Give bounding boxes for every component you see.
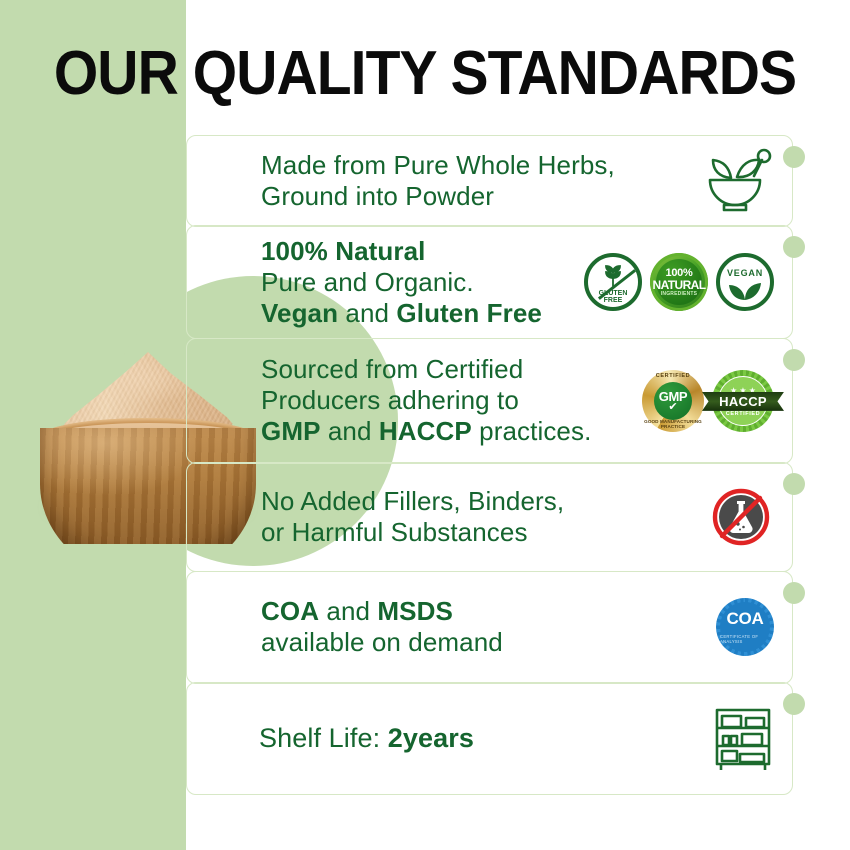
row-icons-1 <box>698 146 792 216</box>
row-text-2: 100% Natural Pure and Organic. Vegan and… <box>187 236 584 329</box>
row1-line1: Made from Pure Whole Herbs, <box>261 150 615 180</box>
row-dot-2 <box>783 236 805 258</box>
row2-line2: Pure and Organic. <box>261 267 474 297</box>
standard-row-certified-producers: Sourced from Certified Producers adherin… <box>186 338 793 464</box>
mortar-and-pestle-icon <box>698 146 774 216</box>
vegan-badge: VEGAN <box>716 253 774 311</box>
row2-line3-and: and <box>338 298 396 328</box>
gluten-free-line2: FREE <box>604 297 623 304</box>
row3-practices: practices. <box>472 416 592 446</box>
row-icons-3: CERTIFIED GOOD MANUFACTURING PRACTICE GM… <box>642 370 792 432</box>
gmp-bottom-text: GOOD MANUFACTURING PRACTICE <box>642 419 704 429</box>
coa-center-text: COA <box>727 610 764 627</box>
row3-haccp: HACCP <box>379 416 472 446</box>
row6-value: 2years <box>388 723 474 753</box>
row6-label: Shelf Life: <box>259 723 388 753</box>
vegan-badge-label: VEGAN <box>727 268 763 278</box>
row-dot-4 <box>783 473 805 495</box>
row2-line3-gluten-free: Gluten Free <box>396 298 542 328</box>
row-text-4: No Added Fillers, Binders, or Harmful Su… <box>187 486 708 548</box>
row2-line1: 100% Natural <box>261 236 426 266</box>
page-title: OUR QUALITY STANDARDS <box>34 40 816 108</box>
standard-row-no-fillers: No Added Fillers, Binders, or Harmful Su… <box>186 462 793 572</box>
quality-standards-poster: OUR QUALITY STANDARDS Made from Pure Who… <box>0 0 850 850</box>
row3-line1: Sourced from Certified <box>261 354 523 384</box>
row4-line1: No Added Fillers, Binders, <box>261 486 564 516</box>
row-icons-2: GLUTEN FREE 100% NATURAL INGREDIENTS <box>584 253 792 311</box>
row5-coa: COA <box>261 596 319 626</box>
row5-and: and <box>319 596 377 626</box>
row-text-5: COA and MSDS available on demand <box>187 596 716 658</box>
gmp-top-text: CERTIFIED <box>642 373 704 379</box>
standard-row-pure-whole-herbs: Made from Pure Whole Herbs, Ground into … <box>186 135 793 227</box>
row-icons-4 <box>708 484 792 550</box>
100-natural-ingredients-badge: 100% NATURAL INGREDIENTS <box>650 253 708 311</box>
no-chemicals-icon <box>708 484 774 550</box>
row-dot-1 <box>783 146 805 168</box>
row-icons-5: COA CERTIFICATE OF ANALYSIS <box>716 598 792 656</box>
row-text-6: Shelf Life: 2years <box>187 723 712 754</box>
haccp-certified-badge: ★ ★ ★ CERTIFIED HACCP <box>712 370 774 432</box>
row5-line2: available on demand <box>261 627 503 657</box>
row-dot-5 <box>783 582 805 604</box>
row1-line2: Ground into Powder <box>261 181 494 211</box>
row-dot-6 <box>783 693 805 715</box>
standard-row-natural-organic: 100% Natural Pure and Organic. Vegan and… <box>186 225 793 339</box>
gmp-check-icon: ✔ <box>668 403 677 412</box>
standards-list: Made from Pure Whole Herbs, Ground into … <box>186 135 793 793</box>
row3-and: and <box>321 416 379 446</box>
row3-gmp: GMP <box>261 416 321 446</box>
row-text-1: Made from Pure Whole Herbs, Ground into … <box>187 150 698 212</box>
row-dot-3 <box>783 349 805 371</box>
coa-sub-text: CERTIFICATE OF ANALYSIS <box>720 634 770 644</box>
natural-badge-ingredients: INGREDIENTS <box>661 292 697 297</box>
standard-row-shelf-life: Shelf Life: 2years <box>186 682 793 795</box>
gluten-free-badge: GLUTEN FREE <box>584 253 642 311</box>
row3-line2: Producers adhering to <box>261 385 519 415</box>
row-icons-6 <box>712 706 792 772</box>
haccp-ribbon-label: HACCP <box>702 392 784 411</box>
storage-shelf-icon <box>712 706 774 772</box>
row4-line2: or Harmful Substances <box>261 517 528 547</box>
row2-line3-vegan: Vegan <box>261 298 338 328</box>
coa-seal-badge: COA CERTIFICATE OF ANALYSIS <box>716 598 774 656</box>
natural-badge-natural: NATURAL <box>653 279 706 291</box>
row5-msds: MSDS <box>377 596 453 626</box>
standard-row-coa-msds: COA and MSDS available on demand COA CER… <box>186 571 793 684</box>
gmp-certified-badge: CERTIFIED GOOD MANUFACTURING PRACTICE GM… <box>642 370 704 432</box>
row-text-3: Sourced from Certified Producers adherin… <box>187 354 642 447</box>
haccp-sub-text: CERTIFIED <box>726 411 760 417</box>
